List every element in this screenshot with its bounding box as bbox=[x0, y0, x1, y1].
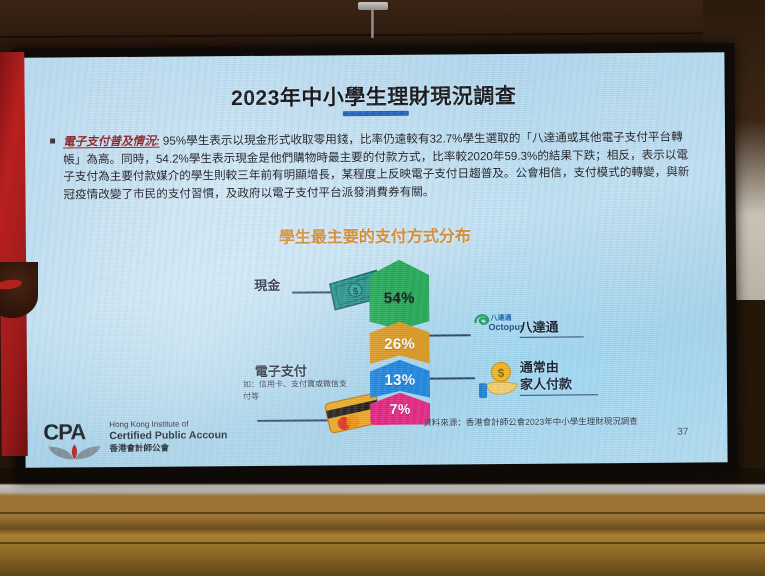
bullet-square-icon bbox=[50, 139, 55, 144]
funnel-segment-octopus: 26% bbox=[369, 322, 429, 364]
octopus-logo-icon: 八達通 Octopus bbox=[471, 309, 523, 333]
chart-label-family-underline bbox=[520, 394, 598, 396]
chart-label-family-line1: 通常由 bbox=[520, 358, 572, 375]
hand-holding-coin-icon: $ bbox=[477, 359, 521, 399]
funnel-segment-cash: 54% bbox=[369, 260, 430, 330]
presentation-slide: 2023年中小學生理財現況調查 電子支付普及情況: 95%學生表示以現金形式收取… bbox=[22, 52, 727, 468]
wood-seam bbox=[0, 542, 765, 544]
funnel-value-epay: 7% bbox=[390, 401, 411, 417]
funnel-value-cash: 54% bbox=[384, 289, 415, 306]
leader-line-epay bbox=[257, 419, 329, 421]
cpa-logo-line2: Certified Public Accoun bbox=[109, 429, 239, 442]
octopus-brand-zh: 八達通 bbox=[489, 313, 512, 322]
body-paragraph: 電子支付普及情況: 95%學生表示以現金形式收取零用錢，比率仍遠較有32.7%學… bbox=[63, 128, 694, 203]
chart-label-octopus: 八達通 bbox=[519, 317, 558, 336]
leader-line-family bbox=[429, 377, 475, 379]
projection-screen-bezel: 2023年中小學生理財現況調查 電子支付普及情況: 95%學生表示以現金形式收取… bbox=[12, 43, 737, 481]
funnel-value-octopus: 26% bbox=[384, 335, 415, 352]
payment-method-funnel-chart: 54% 26% 13% 7% bbox=[369, 260, 430, 425]
cpa-logo-text: Hong Kong Institute of Certified Public … bbox=[109, 419, 239, 454]
wood-seam bbox=[0, 512, 765, 514]
room-photo-background: 2023年中小學生理財現況調查 電子支付普及情況: 95%學生表示以現金形式收取… bbox=[0, 0, 765, 576]
red-banner-strip bbox=[0, 52, 28, 456]
octopus-brand-en: Octopus bbox=[488, 322, 523, 332]
slide-title: 2023年中小學生理財現況調查 bbox=[23, 78, 725, 114]
title-underline-rule bbox=[343, 111, 409, 117]
leader-line-cash bbox=[292, 291, 332, 293]
funnel-value-family: 13% bbox=[384, 371, 415, 388]
source-note: 資料來源：香港會計師公會2023年中小學生理財現況調查 bbox=[423, 415, 638, 429]
chart-sublabel-epay: 如：信用卡、支付寶或微信支付等 bbox=[243, 378, 353, 402]
foreground-dark-object bbox=[0, 262, 38, 318]
funnel-segment-family: 13% bbox=[370, 360, 430, 398]
chart-label-family: 通常由 家人付款 bbox=[520, 358, 572, 392]
paragraph-lede: 電子支付普及情況: bbox=[63, 135, 160, 149]
ceiling-seam bbox=[0, 32, 765, 38]
cpa-logo-line3: 香港會計師公會 bbox=[109, 441, 239, 454]
slide-page-number: 37 bbox=[677, 427, 688, 438]
cpa-leaf-icon bbox=[46, 444, 102, 460]
chart-title: 學生最主要的支付方式分布 bbox=[24, 220, 726, 250]
cpa-logo: CPA Hong Kong Institute of Certified Pub… bbox=[43, 418, 233, 459]
chart-label-octopus-underline bbox=[520, 336, 584, 338]
chart-label-family-line2: 家人付款 bbox=[520, 375, 572, 392]
leader-line-octopus bbox=[429, 334, 471, 336]
cpa-logo-mark: CPA bbox=[43, 419, 85, 445]
chart-label-cash: 現金 bbox=[254, 275, 280, 294]
ceiling-mount-bracket bbox=[358, 2, 388, 10]
chart-label-epay: 電子支付 bbox=[255, 361, 307, 380]
wood-panel-wall bbox=[0, 468, 765, 576]
funnel-segment-epay: 7% bbox=[370, 393, 430, 425]
svg-text:$: $ bbox=[497, 366, 504, 380]
foreground-object-highlight bbox=[0, 278, 22, 291]
